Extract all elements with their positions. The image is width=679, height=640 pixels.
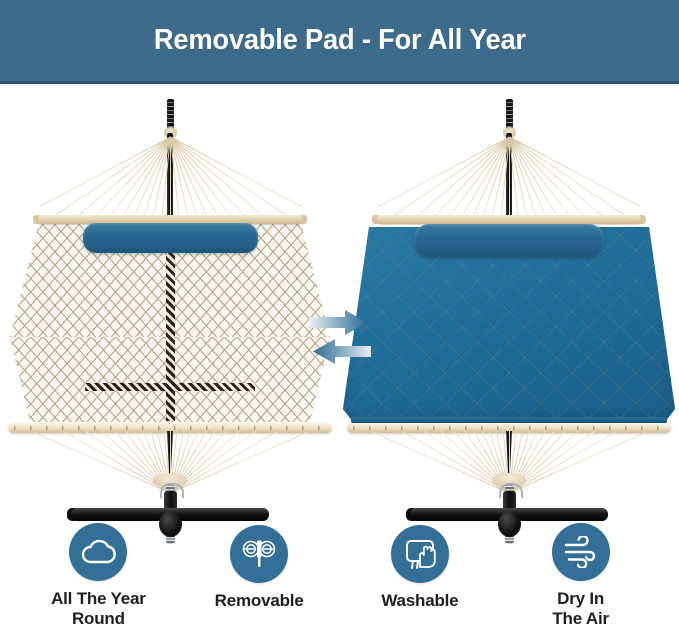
- hammock-pillow: [83, 223, 258, 253]
- top-hanging-chain: [506, 99, 513, 129]
- hand-wash-icon: [391, 525, 449, 583]
- rope-hammock-without-pad: [0, 87, 340, 512]
- feature-item-all-the-year-round: All The Year Round: [23, 523, 173, 629]
- feature-item-removable: Removable: [184, 523, 334, 611]
- product-comparison-stage: [0, 87, 679, 512]
- header-banner: Removable Pad - For All Year: [0, 0, 679, 84]
- feature-item-dry-in-the-air: Dry In The Air: [506, 523, 656, 629]
- quilted-pad: [343, 227, 675, 427]
- top-spreader-bar: [377, 215, 641, 224]
- rope-seam-horizontal: [85, 383, 255, 391]
- page-title: Removable Pad - For All Year: [154, 24, 526, 57]
- hammock-pillow: [414, 224, 604, 257]
- top-hanging-chain: [167, 99, 174, 129]
- feature-strip: All The Year Round Removable: [0, 523, 679, 640]
- rope-hammock-with-quilted-pad: [339, 87, 679, 512]
- feature-item-washable: Washable: [345, 523, 495, 611]
- feature-label: All The Year Round: [51, 589, 146, 629]
- swap-arrows: [305, 309, 375, 371]
- feature-label: Dry In The Air: [552, 589, 609, 629]
- zipper-icon: [230, 525, 288, 583]
- rope-seam-vertical: [166, 225, 175, 421]
- top-suspension-ropes: [339, 133, 679, 223]
- top-suspension-ropes: [0, 133, 340, 223]
- cloud-icon: [69, 523, 127, 581]
- wind-icon: [552, 523, 610, 581]
- arrow-right-icon: [309, 310, 367, 335]
- feature-label: Removable: [215, 591, 304, 611]
- arrow-left-icon: [313, 339, 371, 364]
- feature-label: Washable: [381, 591, 458, 611]
